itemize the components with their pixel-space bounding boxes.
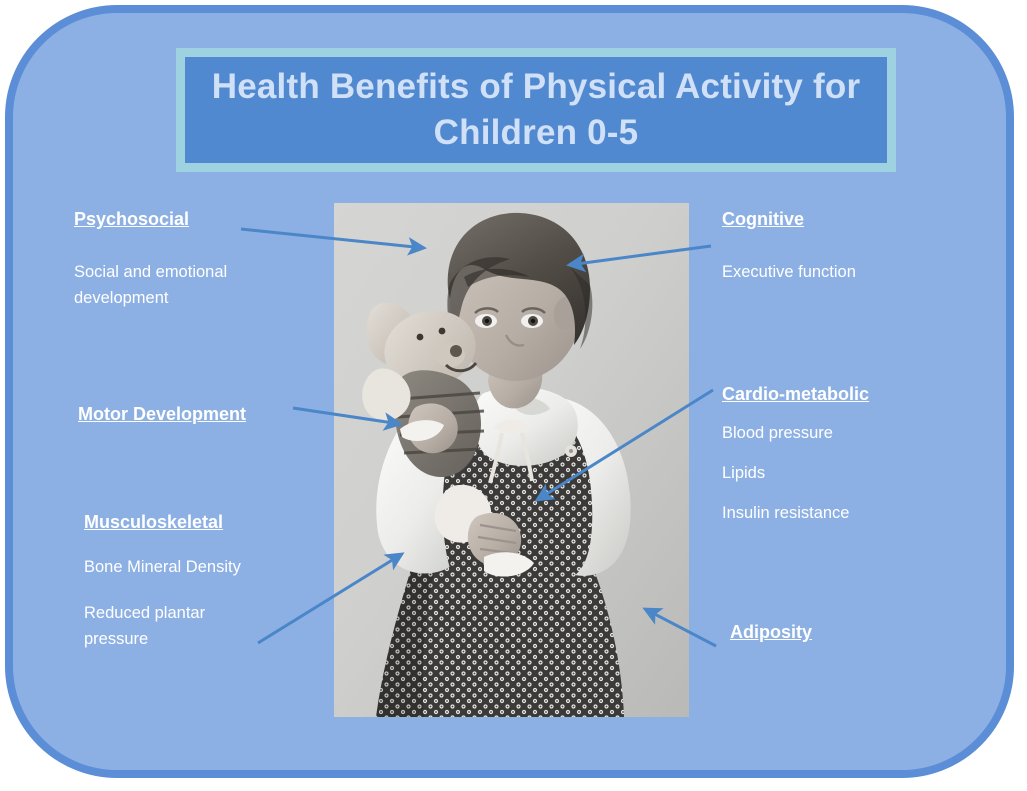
page-title: Health Benefits of Physical Activity for… <box>185 64 887 156</box>
annotation-psychosocial: Psychosocial Social and emotional develo… <box>74 208 324 311</box>
annotation-item-musculoskeletal-0: Bone Mineral Density <box>84 554 354 580</box>
annotation-motor-development: Motor Development <box>78 403 338 426</box>
annotation-item-cognitive-0: Executive function <box>722 259 1002 285</box>
annotation-cognitive: Cognitive Executive function <box>722 208 1002 285</box>
annotation-heading-adiposity: Adiposity <box>730 621 930 644</box>
annotation-adiposity: Adiposity <box>730 621 930 644</box>
annotation-heading-psychosocial: Psychosocial <box>74 208 324 231</box>
annotation-heading-cognitive: Cognitive <box>722 208 1002 231</box>
annotation-heading-motor-development: Motor Development <box>78 403 338 426</box>
child-photo <box>334 203 689 717</box>
annotation-musculoskeletal: Musculoskeletal Bone Mineral Density Red… <box>84 511 354 652</box>
title-box: Health Benefits of Physical Activity for… <box>176 48 896 172</box>
title-box-inner: Health Benefits of Physical Activity for… <box>185 57 887 163</box>
annotation-item-psychosocial-0: Social and emotional development <box>74 259 324 311</box>
slide-canvas: Health Benefits of Physical Activity for… <box>0 0 1027 791</box>
annotation-heading-musculoskeletal: Musculoskeletal <box>84 511 354 534</box>
annotation-cardio-metabolic: Cardio-metabolic Blood pressure Lipids I… <box>722 383 1002 526</box>
child-photo-image <box>334 203 689 717</box>
annotation-heading-cardio-metabolic: Cardio-metabolic <box>722 383 1002 406</box>
annotation-item-cardio-metabolic-2: Insulin resistance <box>722 500 1002 526</box>
annotation-item-musculoskeletal-1: Reduced plantar pressure <box>84 600 264 652</box>
annotation-item-cardio-metabolic-1: Lipids <box>722 460 1002 486</box>
annotation-item-cardio-metabolic-0: Blood pressure <box>722 420 1002 446</box>
